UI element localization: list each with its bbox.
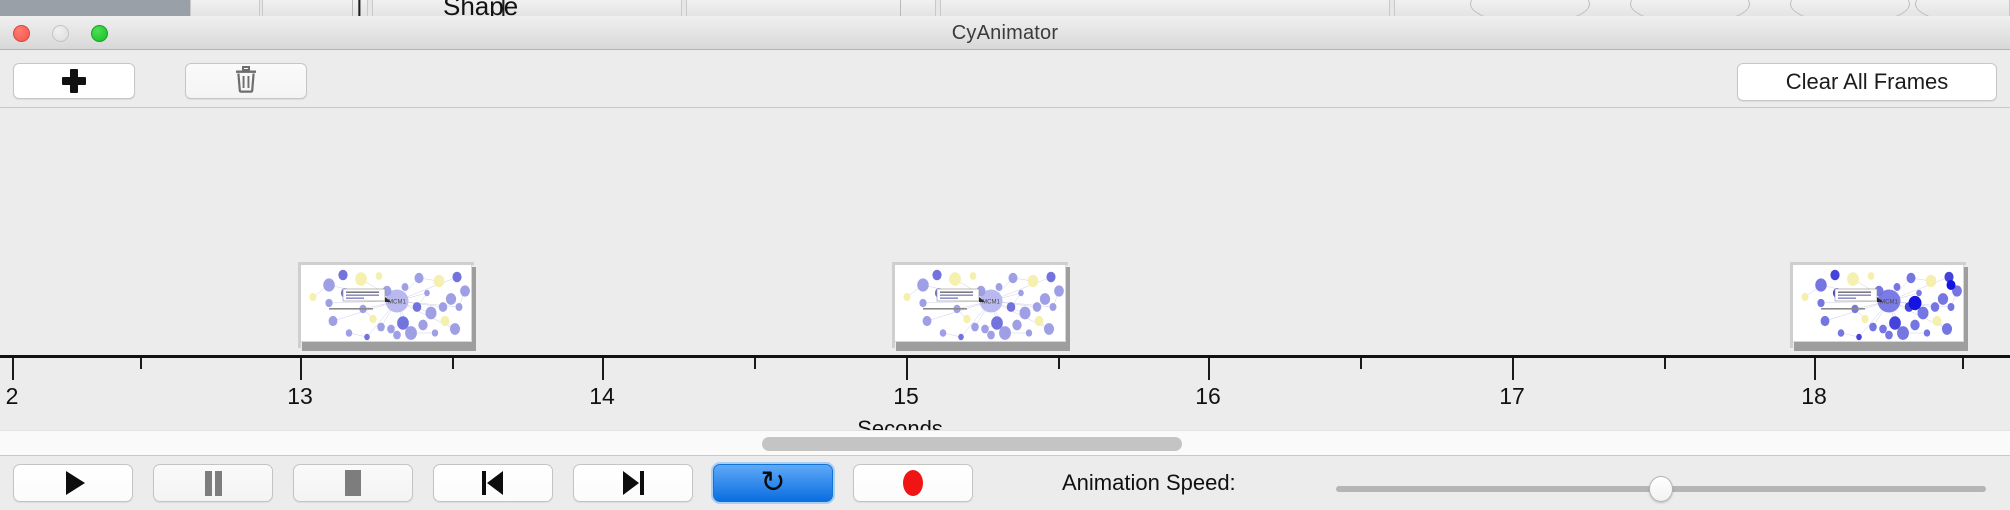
- plus-icon: [61, 68, 87, 94]
- background-divider: [900, 0, 901, 16]
- add-frame-button[interactable]: [13, 63, 135, 99]
- pause-icon: [202, 471, 224, 496]
- skip-next-icon: [621, 471, 645, 495]
- window-title: CyAnimator: [0, 22, 2010, 45]
- horizontal-scrollbar-track[interactable]: [0, 430, 2010, 456]
- loop-button[interactable]: ↻: [713, 464, 833, 502]
- frames-toolbar: Clear All Frames: [0, 50, 2010, 108]
- frames-track: MCM1MCM1MCM1: [0, 108, 2010, 356]
- timeline-tick-minor: [1664, 358, 1666, 369]
- background-divider: [352, 0, 353, 16]
- stop-button[interactable]: [293, 464, 413, 502]
- timeline-tick-major: [1208, 358, 1210, 380]
- window-titlebar[interactable]: CyAnimator: [0, 16, 2010, 50]
- delete-frame-button[interactable]: [185, 63, 307, 99]
- timeline-tick-major: [12, 358, 14, 380]
- animation-speed-slider[interactable]: [1336, 486, 1986, 492]
- record-icon: [903, 470, 923, 496]
- background-window-label: Shape: [443, 0, 518, 16]
- timeline-tick-label: 15: [893, 383, 919, 410]
- step-forward-button[interactable]: [573, 464, 693, 502]
- timeline-tick-label: 13: [287, 383, 313, 410]
- timeline-tick-label: 18: [1801, 383, 1827, 410]
- background-arc: [1630, 0, 1750, 16]
- play-button[interactable]: [13, 464, 133, 502]
- background-window-segment: [190, 0, 260, 16]
- background-window-segment: [372, 0, 682, 16]
- timeline-tick-major: [906, 358, 908, 380]
- animation-speed-label: Animation Speed:: [1062, 470, 1236, 496]
- skip-previous-icon: [481, 471, 505, 495]
- background-arc: [1790, 0, 1910, 16]
- timeline-tick-minor: [754, 358, 756, 369]
- timeline-tick-major: [602, 358, 604, 380]
- timeline-tick-label: 2: [6, 383, 19, 410]
- step-back-button[interactable]: [433, 464, 553, 502]
- timeline-tick-major: [1814, 358, 1816, 380]
- animation-speed-slider-thumb[interactable]: [1649, 476, 1673, 502]
- cyanimator-window: CyAnimator Clear All Frames MCM1MCM1MCM1…: [0, 16, 2010, 510]
- record-button[interactable]: [853, 464, 973, 502]
- stop-icon: [345, 470, 361, 496]
- background-desktop-strip: | | Shape: [0, 0, 2010, 16]
- frame-thumbnail-border: [1790, 262, 1966, 348]
- timeline-panel[interactable]: MCM1MCM1MCM1 2131415161718 Seconds: [0, 108, 2010, 456]
- timeline-tick-label: 16: [1195, 383, 1221, 410]
- timeline-tick-minor: [452, 358, 454, 369]
- playback-control-bar: ↻ Animation Speed:: [0, 456, 2010, 510]
- background-window-segment: [940, 0, 1390, 16]
- timeline-tick-label: 17: [1499, 383, 1525, 410]
- timeline-frame-thumbnail[interactable]: MCM1: [1790, 262, 1966, 348]
- frame-thumbnail-border: [298, 262, 474, 348]
- timeline-frame-thumbnail[interactable]: MCM1: [298, 262, 474, 348]
- horizontal-scrollbar-thumb[interactable]: [762, 437, 1182, 451]
- background-window-dark-panel: [0, 0, 190, 16]
- timeline-tick-minor: [140, 358, 142, 369]
- clear-all-frames-button[interactable]: Clear All Frames: [1737, 63, 1997, 101]
- background-window-segment: [686, 0, 936, 16]
- play-icon: [66, 471, 85, 495]
- loop-icon: ↻: [760, 469, 785, 497]
- timeline-tick-minor: [1962, 358, 1964, 369]
- background-arc: [1470, 0, 1590, 16]
- timeline-tick-major: [300, 358, 302, 380]
- timeline-tick-label: 14: [589, 383, 615, 410]
- pause-button[interactable]: [153, 464, 273, 502]
- background-arc: [1915, 0, 2010, 16]
- frame-thumbnail-border: [892, 262, 1068, 348]
- timeline-frame-thumbnail[interactable]: MCM1: [892, 262, 1068, 348]
- trash-icon: [233, 65, 259, 98]
- timeline-tick-major: [1512, 358, 1514, 380]
- background-glyph: |: [356, 0, 363, 16]
- timeline-tick-minor: [1360, 358, 1362, 369]
- timeline-tick-minor: [1058, 358, 1060, 369]
